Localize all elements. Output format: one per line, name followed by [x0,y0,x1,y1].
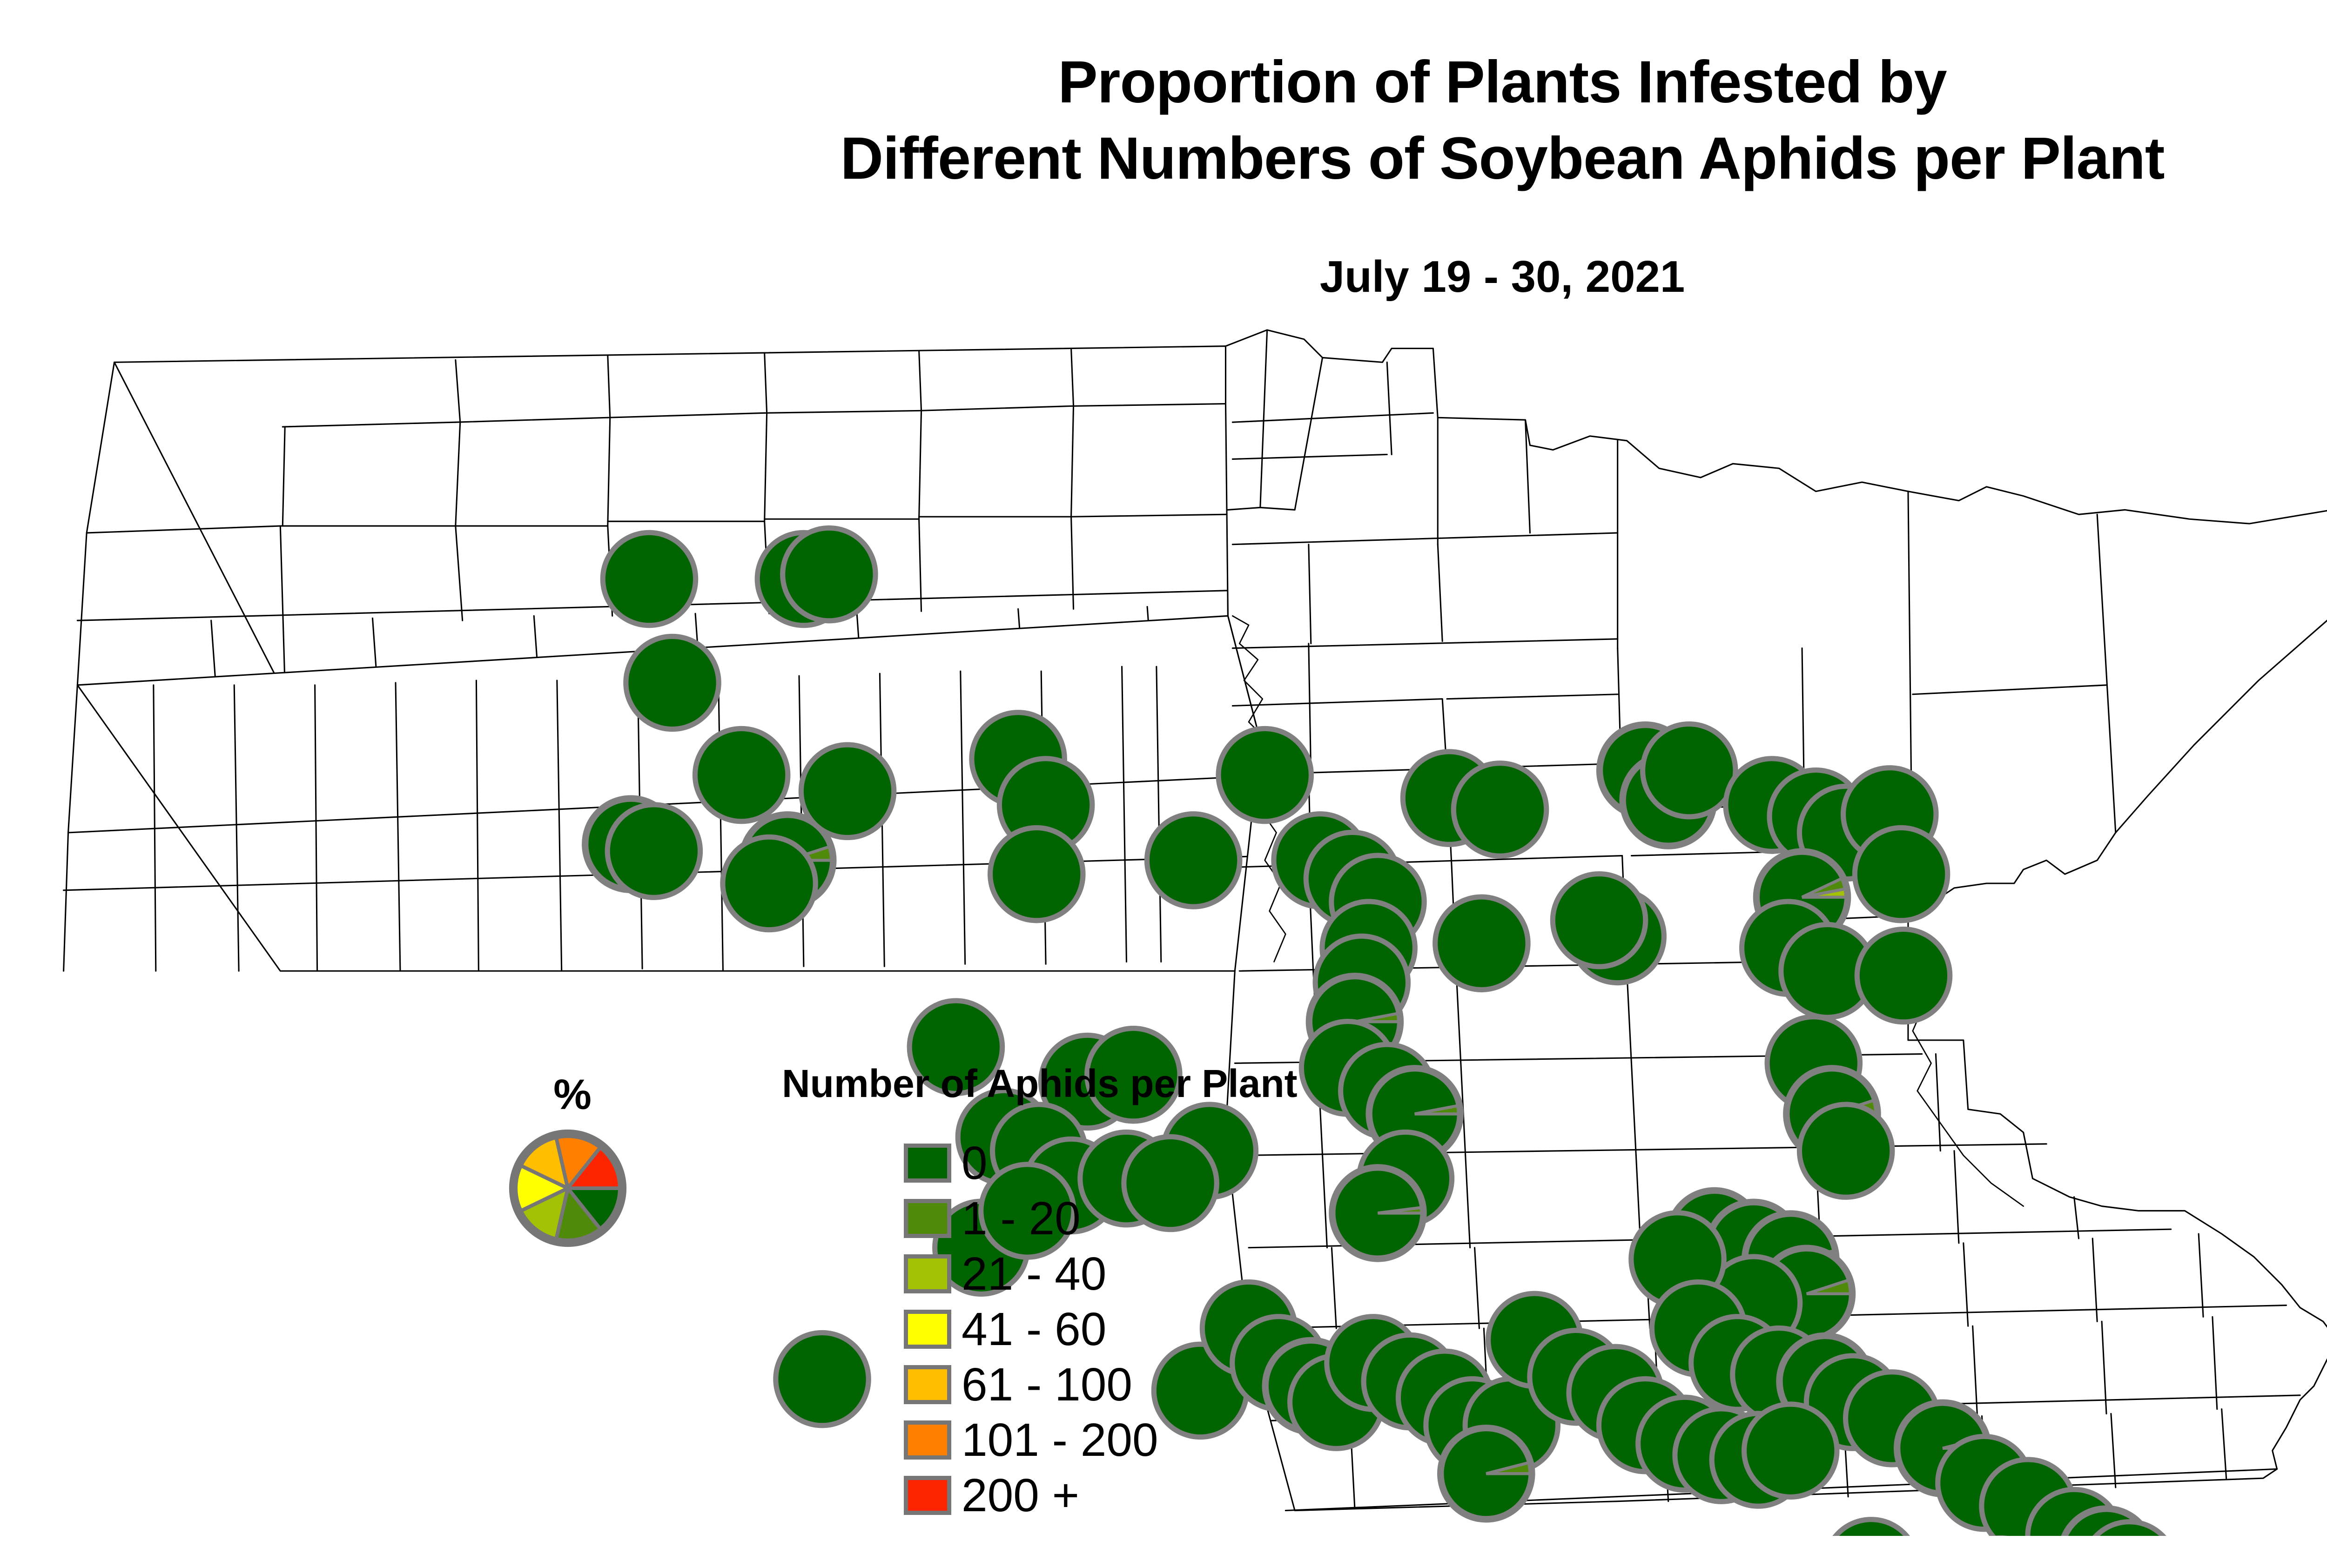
title-line-2: Different Numbers of Soybean Aphids per … [0,121,2327,197]
pie-slice [725,840,813,927]
pie-slice [1857,830,1945,918]
pie-marker[interactable] [605,535,693,623]
pie-marker[interactable] [785,531,873,618]
pie-marker[interactable] [1334,1169,1421,1257]
legend-color-swatch [904,1199,951,1238]
pie-marker[interactable] [725,840,813,927]
pie-marker[interactable] [1802,1107,1890,1195]
pie-marker[interactable] [1828,1522,1915,1536]
legend-color-swatch [904,1420,951,1460]
pie-marker[interactable] [1456,766,1544,853]
pie-marker[interactable] [1555,876,1643,964]
pie-marker[interactable] [1645,727,1733,814]
legend-label: 200 + [962,1472,1079,1519]
pie-slice [610,807,698,895]
pie-marker[interactable] [1860,932,1947,1019]
pie-slice [1438,900,1525,987]
pie-marker[interactable] [610,807,698,895]
pie-chart-icon [507,1128,628,1249]
pie-slice [1150,816,1237,904]
pie-slice [993,830,1080,918]
pie-slice [1802,1107,1890,1195]
legend-row[interactable]: 101 - 200 [904,1412,1298,1467]
legend-row[interactable]: 1 - 20 [904,1191,1298,1246]
pie-marker[interactable] [993,830,1080,918]
legend-title: Number of Aphids per Plant [782,1061,1298,1106]
pie-marker[interactable] [1857,830,1945,918]
legend-color-swatch [904,1254,951,1293]
legend: Number of Aphids per Plant 01 - 2021 - 4… [782,1061,1298,1523]
legend-label: 41 - 60 [962,1306,1106,1353]
pie-slice [1555,876,1643,964]
pie-marker[interactable] [1221,731,1309,819]
pie-marker[interactable] [1747,1407,1834,1494]
page-title: Proportion of Plants Infested by Differe… [0,44,2327,197]
pie-marker[interactable] [1442,1430,1530,1517]
pie-slice [785,531,873,618]
legend-label: 61 - 100 [962,1361,1132,1408]
legend-color-swatch [904,1144,951,1183]
legend-label: 1 - 20 [962,1195,1081,1242]
legend-row[interactable]: 0 [904,1135,1298,1191]
legend-color-swatch [904,1365,951,1404]
pie-slice [1860,932,1947,1019]
legend-row[interactable]: 21 - 40 [904,1246,1298,1301]
pie-slice [1747,1407,1834,1494]
pie-slice [605,535,693,623]
legend-items: 01 - 2021 - 4041 - 6061 - 100101 - 20020… [904,1135,1298,1523]
legend-color-swatch [904,1310,951,1349]
legend-label: 21 - 40 [962,1251,1106,1297]
percent-key: % [507,1070,656,1251]
pie-slice [804,747,891,835]
pie-marker[interactable] [628,639,716,727]
pie-slice [698,731,785,819]
pie-marker[interactable] [804,747,891,835]
pie-marker[interactable] [1438,900,1525,987]
title-line-1: Proportion of Plants Infested by [0,44,2327,121]
legend-label: 101 - 200 [962,1417,1158,1463]
pie-slice [1645,727,1733,814]
pie-marker[interactable] [698,731,785,819]
legend-row[interactable]: 41 - 60 [904,1301,1298,1357]
pie-slice [1456,766,1544,853]
pie-marker[interactable] [1150,816,1237,904]
percent-label: % [512,1070,633,1119]
pie-slice [1221,731,1309,819]
legend-color-swatch [904,1476,951,1515]
legend-row[interactable]: 200 + [904,1467,1298,1523]
pie-slice [628,639,716,727]
legend-row[interactable]: 61 - 100 [904,1357,1298,1412]
legend-label: 0 [962,1140,988,1186]
